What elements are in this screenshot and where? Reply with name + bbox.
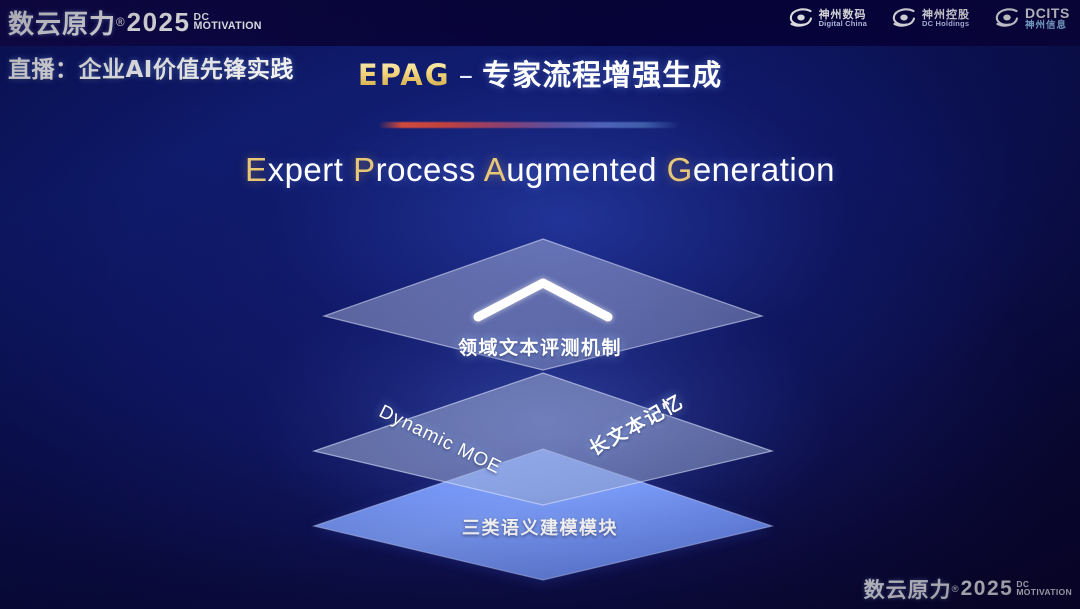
partner-name-en: Digital China xyxy=(819,20,867,28)
partner-logo-row: 神州数码 Digital China 神州控股 DC Holdings xyxy=(788,6,1070,31)
layer-label-top: 领域文本评测机制 xyxy=(0,333,1080,360)
layer-label-middle-right: 长文本记忆 xyxy=(583,387,688,462)
brand-logo-bottom-right: 数云原力 ® 2025 DC MOTIVATION xyxy=(864,574,1072,604)
subtitle-cap-e: E xyxy=(245,151,268,188)
brand-registered-mark: ® xyxy=(116,16,125,29)
chevron-up-icon xyxy=(478,283,608,317)
swirl-icon xyxy=(788,7,814,29)
brand-logo-chinese: 数云原力 xyxy=(864,574,952,604)
subtitle-word-generation: Generation xyxy=(667,151,835,188)
partner-text-dcits: DCITS 神州信息 xyxy=(1025,6,1070,31)
brand-logo-tagline: DC MOTIVATION xyxy=(1016,581,1072,597)
headline-dash: – xyxy=(459,58,475,92)
slide-background: 数云原力 ® 2025 DC MOTIVATION 直播：企业AI价值先锋实践 … xyxy=(0,0,1080,609)
brand-logo-motivation: MOTIVATION xyxy=(193,22,261,32)
subtitle-word-expert: Expert xyxy=(245,151,343,188)
layer-label-middle-left: Dynamic MOE xyxy=(375,401,505,479)
swirl-icon xyxy=(891,7,917,29)
layer-middle xyxy=(314,373,772,505)
subtitle-cap-g: G xyxy=(667,151,693,188)
partner-name-en: DC Holdings xyxy=(922,20,970,28)
partner-text-dc-holdings: 神州控股 DC Holdings xyxy=(922,9,970,28)
partner-logo-dc-holdings: 神州控股 DC Holdings xyxy=(891,7,970,29)
brand-logo-year: 2025 xyxy=(961,577,1014,601)
brand-logo-chinese: 数云原力 xyxy=(8,4,116,41)
subtitle-word-augmented: Augmented xyxy=(484,151,657,188)
subtitle-cap-p: P xyxy=(353,151,376,188)
layer-label-bottom: 三类语义建模模块 xyxy=(0,514,1080,540)
headline-chinese: 专家流程增强生成 xyxy=(482,58,722,92)
partner-name-en: DCITS xyxy=(1025,6,1070,21)
gradient-divider xyxy=(378,122,680,128)
subtitle-word-process: Process xyxy=(353,151,476,188)
swirl-icon xyxy=(994,7,1020,29)
brand-registered-mark: ® xyxy=(952,584,959,595)
brand-logo-top-left: 数云原力 ® 2025 DC MOTIVATION xyxy=(8,4,262,41)
subtitle-rest-augmented: ugmented xyxy=(506,151,657,188)
subtitle-rest-expert: xpert xyxy=(268,151,344,188)
brand-logo-motivation: MOTIVATION xyxy=(1016,589,1072,597)
subtitle-cap-a: A xyxy=(484,151,507,188)
partner-logo-digital-china: 神州数码 Digital China xyxy=(788,7,867,29)
subtitle-rest-process: rocess xyxy=(376,151,476,188)
partner-logo-dcits: DCITS 神州信息 xyxy=(994,6,1070,31)
headline-acronym: EPAG xyxy=(358,58,451,92)
layer-bottom xyxy=(313,449,773,583)
subtitle-rest-generation: eneration xyxy=(693,151,835,188)
page-subtitle: Expert Process Augmented Generation xyxy=(0,151,1080,189)
brand-logo-year: 2025 xyxy=(127,7,191,38)
page-title: EPAG–专家流程增强生成 xyxy=(0,52,1080,94)
partner-text-digital-china: 神州数码 Digital China xyxy=(819,9,867,28)
partner-name-cn: 神州信息 xyxy=(1025,21,1070,31)
layer-top xyxy=(324,239,762,370)
brand-logo-tagline: DC MOTIVATION xyxy=(193,13,261,32)
